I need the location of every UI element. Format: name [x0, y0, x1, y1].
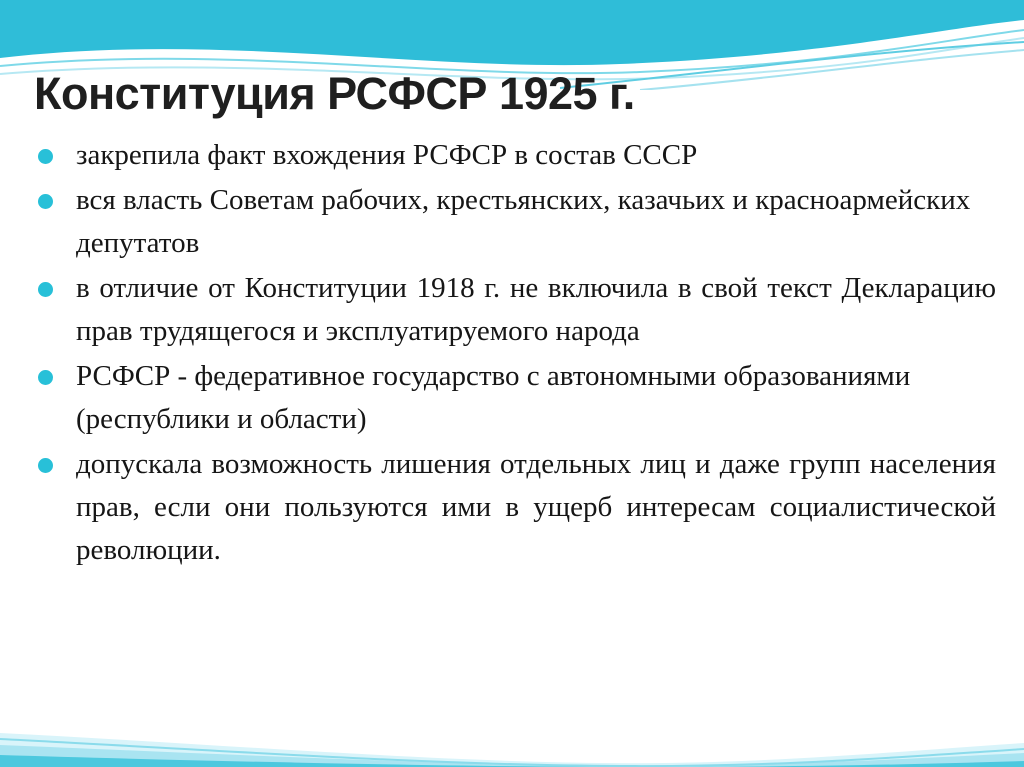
list-item: вся власть Советам рабочих, крестьянских…	[28, 179, 996, 265]
bullet-dot-icon	[38, 458, 53, 473]
bullet-text: РСФСР - федеративное государство с автон…	[76, 355, 996, 441]
bullet-list: закрепила факт вхождения РСФСР в состав …	[28, 134, 996, 572]
list-item: в отличие от Конституции 1918 г. не вклю…	[28, 267, 996, 353]
slide-body: закрепила факт вхождения РСФСР в состав …	[28, 134, 996, 574]
list-item: закрепила факт вхождения РСФСР в состав …	[28, 134, 996, 177]
bullet-dot-icon	[38, 282, 53, 297]
slide-title: Конституция РСФСР 1925 г.	[34, 68, 984, 120]
bullet-dot-icon	[38, 149, 53, 164]
list-item: допускала возможность лишения отдельных …	[28, 443, 996, 572]
bullet-dot-icon	[38, 370, 53, 385]
bullet-text: вся власть Советам рабочих, крестьянских…	[76, 179, 996, 265]
list-item: РСФСР - федеративное государство с автон…	[28, 355, 996, 441]
bullet-text: допускала возможность лишения отдельных …	[76, 443, 996, 572]
bottom-decoration-ribbons	[0, 647, 1024, 767]
bullet-text: закрепила факт вхождения РСФСР в состав …	[76, 134, 996, 177]
bullet-dot-icon	[38, 194, 53, 209]
bullet-text: в отличие от Конституции 1918 г. не вклю…	[76, 267, 996, 353]
slide: Конституция РСФСР 1925 г. закрепила факт…	[0, 0, 1024, 767]
